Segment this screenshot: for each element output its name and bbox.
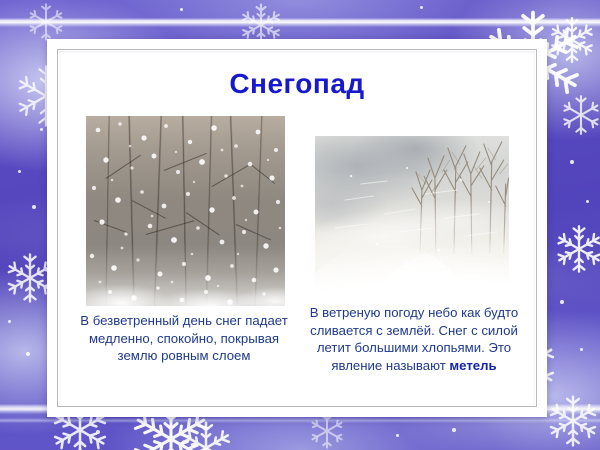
content-frame: Снегопад (47, 39, 547, 417)
falling-snow-overlay (86, 116, 285, 306)
blowing-snow-overlay (315, 136, 509, 300)
content-frame-inner: Снегопад (57, 49, 537, 407)
caption-left: В безветренный день снег падает медленно… (70, 312, 298, 365)
caption-right: В ветреную погоду небо как будто сливает… (294, 304, 534, 374)
snowfall-forest-photo (86, 116, 285, 306)
slide-canvas: Снегопад (0, 0, 600, 450)
blizzard-snowdrift-photo (315, 136, 509, 300)
page-title: Снегопад (58, 68, 536, 100)
caption-right-term: метель (449, 358, 496, 373)
